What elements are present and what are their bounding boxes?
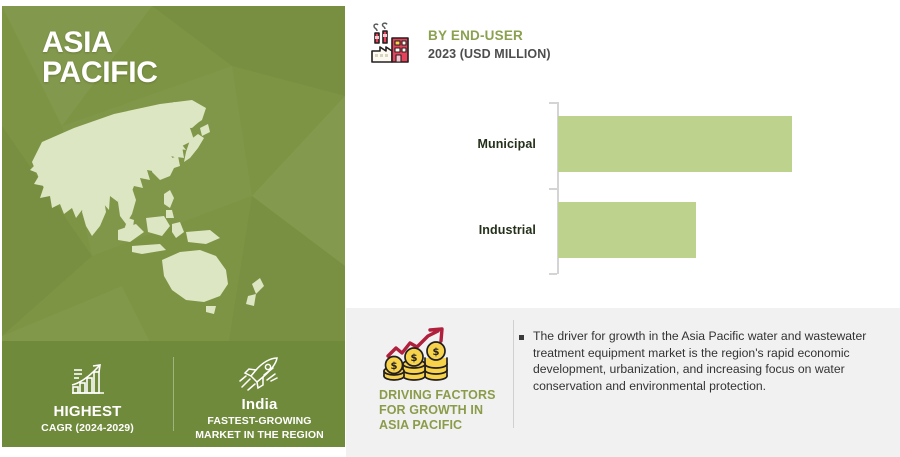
svg-text:$: $: [411, 353, 418, 364]
region-panel: ASIA PACIFIC: [2, 6, 345, 447]
chart-section: BY END-USER 2023 (USD MILLION) Municipal…: [346, 6, 900, 308]
rocket-icon: [237, 352, 283, 392]
chart-header: BY END-USER 2023 (USD MILLION): [366, 20, 551, 70]
coins-growth-icon: $ $: [382, 326, 454, 388]
driving-factors-section: $ $: [346, 308, 900, 457]
list-item: The driver for growth in the Asia Pacifi…: [519, 328, 871, 394]
bar-municipal: [558, 116, 792, 172]
factory-icon: [366, 20, 416, 70]
stat-value: India: [241, 397, 277, 413]
chart-title: BY END-USER: [428, 28, 551, 44]
bar-chart-plot: Municipal Industrial: [346, 98, 900, 288]
bullet-square-icon: [519, 335, 524, 340]
vertical-divider: [513, 320, 514, 428]
region-title-line1: ASIA: [42, 28, 158, 58]
table-row: Industrial: [346, 202, 900, 258]
bar-label-municipal: Municipal: [477, 137, 536, 151]
growth-bar-chart-icon: [67, 359, 109, 399]
stat-fastest-growing-country: India FASTEST-GROWING MARKET IN THE REGI…: [174, 348, 345, 441]
stat-sub: CAGR (2024-2029): [41, 422, 134, 434]
driving-factors-title: DRIVING FACTORS FOR GROWTH IN ASIA PACIF…: [379, 388, 509, 433]
stat-value: HIGHEST: [53, 404, 121, 420]
infographic-page: ASIA PACIFIC: [0, 0, 900, 457]
stat-sub-line1: FASTEST-GROWING: [207, 415, 311, 427]
drivers-title-line2: FOR GROWTH IN: [379, 403, 509, 418]
driver-bullet-text: The driver for growth in the Asia Pacifi…: [533, 328, 871, 394]
axis-tick-bottom: [549, 273, 557, 275]
region-stats-band: HIGHEST CAGR (2024-2029): [2, 341, 345, 447]
page-title: ASIA PACIFIC: [42, 28, 158, 88]
bar-industrial: [558, 202, 696, 258]
svg-text:$: $: [391, 361, 398, 372]
chart-subtitle: 2023 (USD MILLION): [428, 46, 551, 62]
axis-tick-mid: [549, 188, 557, 190]
stat-highest-cagr: HIGHEST CAGR (2024-2029): [2, 355, 173, 434]
asia-pacific-map-icon: [14, 84, 334, 334]
drivers-title-line1: DRIVING FACTORS: [379, 388, 509, 403]
stat-sub-line2: MARKET IN THE REGION: [195, 429, 324, 441]
table-row: Municipal: [346, 116, 900, 172]
svg-text:$: $: [433, 347, 440, 358]
drivers-title-line3: ASIA PACIFIC: [379, 418, 509, 433]
axis-tick-top: [549, 102, 557, 104]
bar-label-industrial: Industrial: [479, 223, 536, 237]
